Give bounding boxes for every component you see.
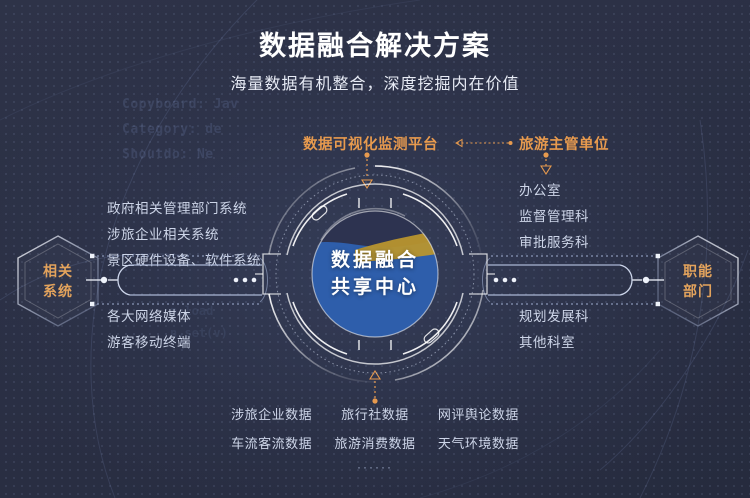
page-title: 数据融合解决方案 bbox=[0, 24, 750, 63]
list-item: 旅游消费数据 bbox=[328, 432, 421, 456]
list-item: 旅行社数据 bbox=[328, 403, 421, 427]
orange-connector-top-right bbox=[539, 152, 553, 178]
bottom-data-grid: 涉旅企业数据 旅行社数据 网评舆论数据 车流客流数据 旅游消费数据 天气环境数据 bbox=[225, 403, 525, 456]
list-item: 办公室 bbox=[519, 178, 589, 204]
page-subtitle: 海量数据有机整合，深度挖掘内在价值 bbox=[0, 70, 750, 94]
list-item: 游客移动终端 bbox=[107, 330, 191, 356]
bottom-ellipsis: ······ bbox=[0, 460, 750, 474]
list-item: 其他科室 bbox=[519, 330, 589, 356]
connector-right bbox=[476, 252, 666, 308]
label-tourism-authority: 旅游主管单位 bbox=[519, 133, 609, 154]
hexagon-left-line1: 相关 bbox=[43, 261, 73, 281]
central-ring-system bbox=[255, 150, 495, 398]
infographic-canvas: Copyboard: Jav Category: de Shoutdo: Ne … bbox=[0, 0, 750, 498]
hexagon-left-line2: 系统 bbox=[43, 281, 73, 301]
connector-left bbox=[84, 252, 274, 308]
dotted-arrow-left-icon bbox=[447, 137, 515, 149]
hexagon-right-line1: 职能 bbox=[683, 261, 713, 281]
list-item: 天气环境数据 bbox=[432, 432, 525, 456]
list-item: 涉旅企业相关系统 bbox=[107, 222, 261, 248]
right-bottom-department-list: 规划发展科 其他科室 bbox=[519, 304, 589, 356]
list-item: 监督管理科 bbox=[519, 204, 589, 230]
list-item: 涉旅企业数据 bbox=[225, 403, 318, 427]
left-bottom-source-list: 各大网络媒体 游客移动终端 bbox=[107, 304, 191, 356]
right-top-department-list: 办公室 监督管理科 审批服务科 bbox=[519, 178, 589, 256]
list-item: 车流客流数据 bbox=[225, 432, 318, 456]
hexagon-right-line2: 部门 bbox=[683, 281, 713, 301]
background-code-line: Copyboard: Jav bbox=[122, 92, 362, 117]
list-item: 政府相关管理部门系统 bbox=[107, 196, 261, 222]
list-item: 网评舆论数据 bbox=[432, 403, 525, 427]
